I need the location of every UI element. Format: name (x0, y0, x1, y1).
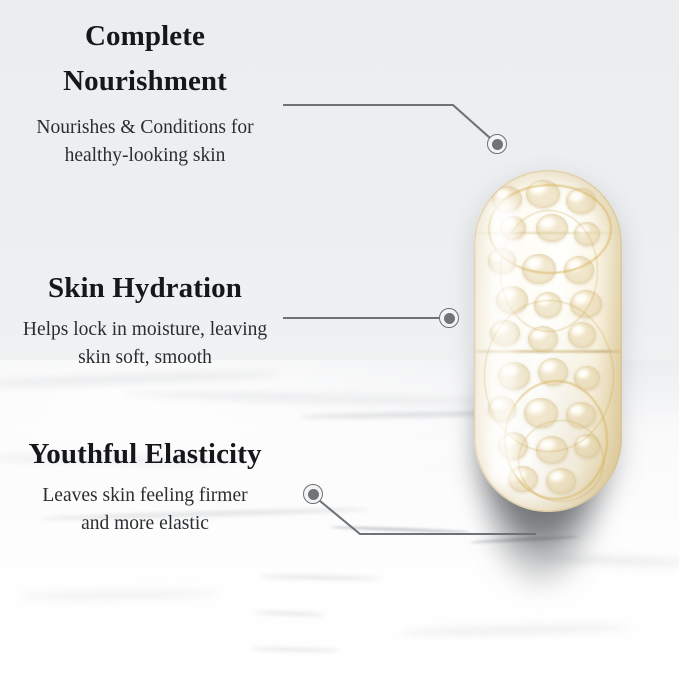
leader-line-youthful-elasticity (320, 501, 536, 534)
callout-body: Nourishes & Conditions for healthy-looki… (0, 114, 290, 170)
callout-body-line2: healthy-looking skin (65, 145, 226, 166)
callout-body-line1: Leaves skin feeling firmer (42, 485, 247, 506)
marker-dot (444, 313, 455, 324)
callout-body-line2: and more elastic (81, 513, 209, 534)
callout-body: Helps lock in moisture, leaving skin sof… (0, 316, 290, 372)
infographic-canvas: Complete Nourishment Nourishes & Conditi… (0, 0, 679, 679)
callout-skin-hydration: Skin Hydration Helps lock in moisture, l… (0, 268, 290, 372)
callout-body-line2: skin soft, smooth (78, 347, 212, 368)
callout-heading: Youthful Elasticity (0, 434, 290, 474)
marker-complete-nourishment-icon[interactable] (487, 134, 507, 154)
callout-youthful-elasticity: Youthful Elasticity Leaves skin feeling … (0, 434, 290, 538)
marker-skin-hydration-icon[interactable] (439, 308, 459, 328)
callout-heading-line1: Complete (85, 20, 205, 52)
callout-heading-line1: Skin Hydration (48, 272, 242, 304)
callout-body-line1: Helps lock in moisture, leaving (23, 319, 267, 340)
marker-dot (492, 139, 503, 150)
callout-heading-line1: Youthful Elasticity (28, 438, 261, 470)
marker-dot (308, 489, 319, 500)
leader-line-complete-nourishment (283, 105, 490, 138)
callout-heading-line2: Nourishment (63, 65, 227, 97)
marker-youthful-elasticity-icon[interactable] (303, 484, 323, 504)
callout-heading: Skin Hydration (0, 268, 290, 308)
callout-body: Leaves skin feeling firmer and more elas… (0, 482, 290, 538)
callout-body-line1: Nourishes & Conditions for (36, 117, 253, 138)
callout-heading: Complete Nourishment (0, 14, 290, 104)
callout-complete-nourishment: Complete Nourishment Nourishes & Conditi… (0, 14, 290, 170)
